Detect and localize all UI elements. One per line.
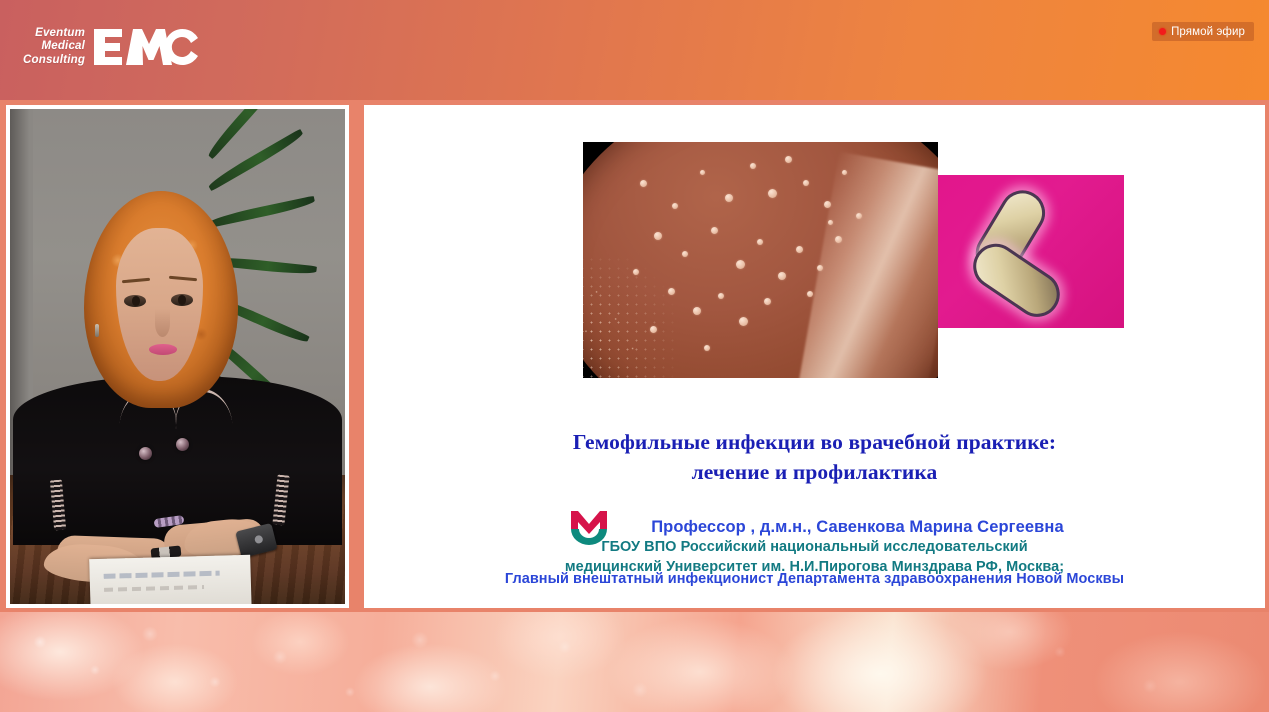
colony-lawn [583, 255, 675, 378]
live-dot-icon [1159, 28, 1166, 35]
slide-title-line-1: Гемофильные инфекции во врачебной практи… [364, 427, 1265, 457]
jacket-button [139, 447, 152, 460]
papers-on-desk [90, 555, 252, 604]
live-badge-label: Прямой эфир [1171, 26, 1245, 38]
bottom-decorative-band [0, 612, 1269, 712]
presentation-slide-panel[interactable]: Гемофильные инфекции во врачебной практи… [364, 105, 1265, 608]
brand-line-1: Eventum [35, 27, 85, 41]
page-header: Eventum Medical Consulting Прямой эфир [0, 0, 1269, 100]
affiliation-line-3: Главный внештатный инфекционист Департам… [364, 571, 1265, 587]
slide-title: Гемофильные инфекции во врачебной практи… [364, 427, 1265, 487]
webinar-stage: Eventum Medical Consulting Прямой эфир [0, 0, 1269, 712]
affiliation-line-1: ГБОУ ВПО Российский национальный исследо… [364, 539, 1265, 555]
live-broadcast-badge[interactable]: Прямой эфир [1152, 22, 1254, 41]
jacket-button [176, 438, 189, 451]
earring [95, 324, 99, 337]
nose [155, 309, 170, 336]
speaker-video-panel[interactable] [6, 105, 349, 608]
speaker-video-frame [10, 109, 345, 604]
pupil-right [178, 295, 186, 304]
brand-line-3: Consulting [23, 54, 85, 68]
brand-logo: Eventum Medical Consulting [23, 24, 204, 70]
brand-line-2: Medical [41, 40, 85, 54]
petri-dish-photo [583, 142, 938, 378]
slide-title-line-2: лечение и профилактика [364, 457, 1265, 487]
presenter-name: Профессор , д.м.н., Савенкова Марина Сер… [651, 518, 1064, 537]
pupil-left [132, 296, 140, 305]
brand-wordmark: Eventum Medical Consulting [23, 27, 85, 68]
emc-logomark-icon [92, 24, 204, 70]
bacteria-micrograph-photo [938, 175, 1124, 328]
